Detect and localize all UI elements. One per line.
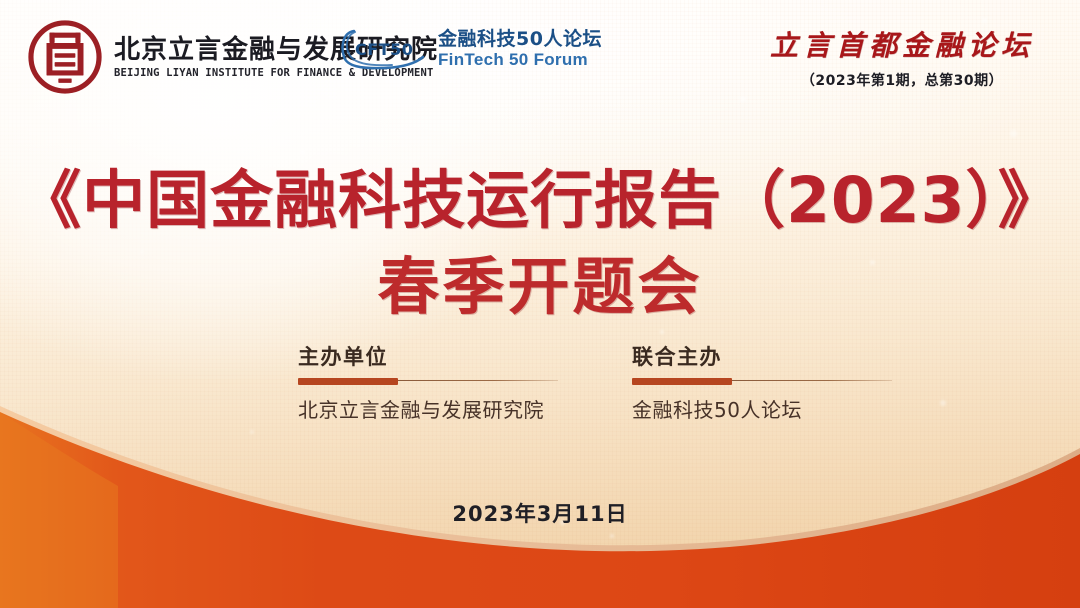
- event-date: 2023年3月11日: [0, 498, 1080, 528]
- organizer-cohost-value: 金融科技50人论坛: [632, 394, 902, 423]
- cft50-badge-icon: CFT50: [340, 26, 428, 72]
- partner-name-en: FinTech 50 Forum: [438, 51, 602, 70]
- organizer-cohost: 联合主办 金融科技50人论坛: [632, 346, 902, 423]
- partner-brand: CFT50 金融科技50人论坛 FinTech 50 Forum: [340, 26, 602, 72]
- liyan-seal-icon: [28, 20, 102, 94]
- organizer-host: 主办单位 北京立言金融与发展研究院: [298, 346, 568, 423]
- forum-brand: 立言首都金融论坛 （2023年第1期，总第30期）: [770, 24, 1034, 90]
- organizers-section: 主办单位 北京立言金融与发展研究院 联合主办 金融科技50人论坛: [0, 346, 1080, 436]
- slide-title: 《中国金融科技运行报告（2023）》: [0, 150, 1080, 241]
- partner-name-block: 金融科技50人论坛 FinTech 50 Forum: [438, 29, 602, 70]
- organizer-host-rule: [298, 377, 558, 385]
- forum-issue-number: （2023年第1期，总第30期）: [801, 70, 1003, 90]
- organizer-cohost-rule: [632, 377, 892, 385]
- presentation-slide: 北京立言金融与发展研究院 BEIJING LIYAN INSTITUTE FOR…: [0, 0, 1080, 608]
- slide-subtitle: 春季开题会: [0, 236, 1080, 326]
- decorative-wave-shape: [0, 288, 1080, 608]
- partner-name-cn: 金融科技50人论坛: [438, 29, 602, 50]
- forum-title: 立言首都金融论坛: [770, 24, 1034, 64]
- organizer-cohost-label: 联合主办: [632, 346, 902, 369]
- svg-text:CFT50: CFT50: [355, 40, 413, 59]
- organizer-host-value: 北京立言金融与发展研究院: [298, 394, 568, 423]
- slide-header: 北京立言金融与发展研究院 BEIJING LIYAN INSTITUTE FOR…: [0, 0, 1080, 110]
- organizer-host-label: 主办单位: [298, 346, 568, 369]
